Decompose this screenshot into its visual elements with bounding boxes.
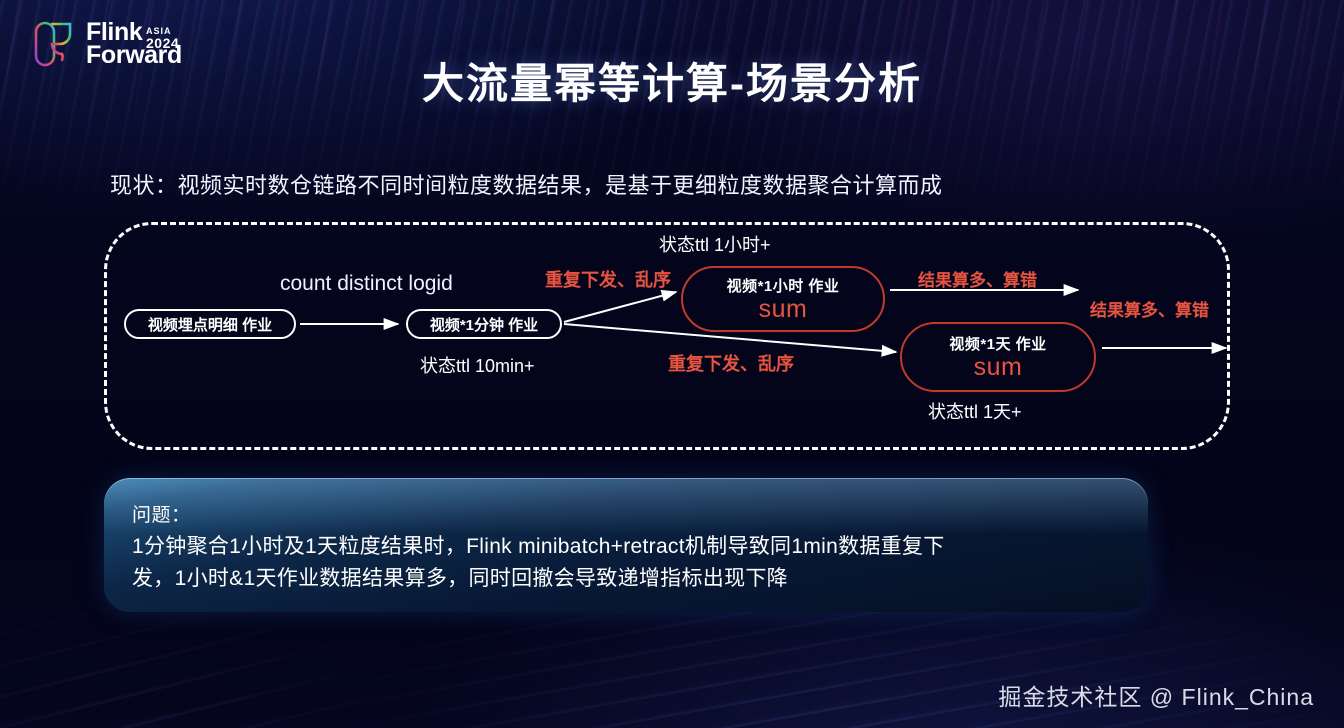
label-duplicate-out-of-order-day: 重复下发、乱序 (668, 350, 794, 376)
footer-watermark: 掘金技术社区 @ Flink_China (998, 678, 1314, 712)
label-ttl-1day: 状态ttl 1天+ (928, 398, 1022, 424)
label-ttl-10min: 状态ttl 10min+ (420, 352, 535, 378)
status-line: 现状：视频实时数仓链路不同时间粒度数据结果，是基于更细粒度数据聚合计算而成 (110, 168, 943, 200)
problem-line-1: 1分钟聚合1小时及1天粒度结果时，Flink minibatch+retract… (132, 531, 1120, 563)
node-day-job[interactable]: 视频*1天 作业 sum (900, 322, 1096, 392)
node-day-job-label: 视频*1天 作业 (949, 333, 1046, 354)
problem-label: 问题： (132, 500, 1120, 527)
node-day-job-op: sum (974, 354, 1023, 381)
node-hour-job-op: sum (759, 296, 808, 323)
node-detail-job-label: 视频埋点明细 作业 (148, 314, 272, 335)
problem-callout-box: 问题： 1分钟聚合1小时及1天粒度结果时，Flink minibatch+ret… (104, 478, 1148, 612)
slide-canvas: Flink Forward ASIA 2024 大流量幂等计算-场景分析 现状：… (0, 0, 1344, 728)
page-title: 大流量幂等计算-场景分析 (0, 50, 1344, 111)
problem-line-2: 发，1小时&1天作业数据结果算多，同时回撤会导致递增指标出现下降 (132, 563, 1120, 595)
label-duplicate-out-of-order-hour: 重复下发、乱序 (545, 266, 671, 292)
node-detail-job[interactable]: 视频埋点明细 作业 (124, 309, 296, 339)
event-year-label: 2024 (146, 36, 179, 51)
node-minute-job-label: 视频*1分钟 作业 (430, 314, 538, 335)
label-count-distinct: count distinct logid (280, 272, 453, 296)
node-hour-job-label: 视频*1小时 作业 (727, 275, 840, 296)
label-result-error-hour: 结果算多、算错 (918, 266, 1037, 291)
label-result-error-day: 结果算多、算错 (1090, 296, 1209, 321)
node-hour-job[interactable]: 视频*1小时 作业 sum (681, 266, 885, 332)
label-ttl-1hour: 状态ttl 1小时+ (659, 231, 771, 257)
node-minute-job[interactable]: 视频*1分钟 作业 (406, 309, 562, 339)
